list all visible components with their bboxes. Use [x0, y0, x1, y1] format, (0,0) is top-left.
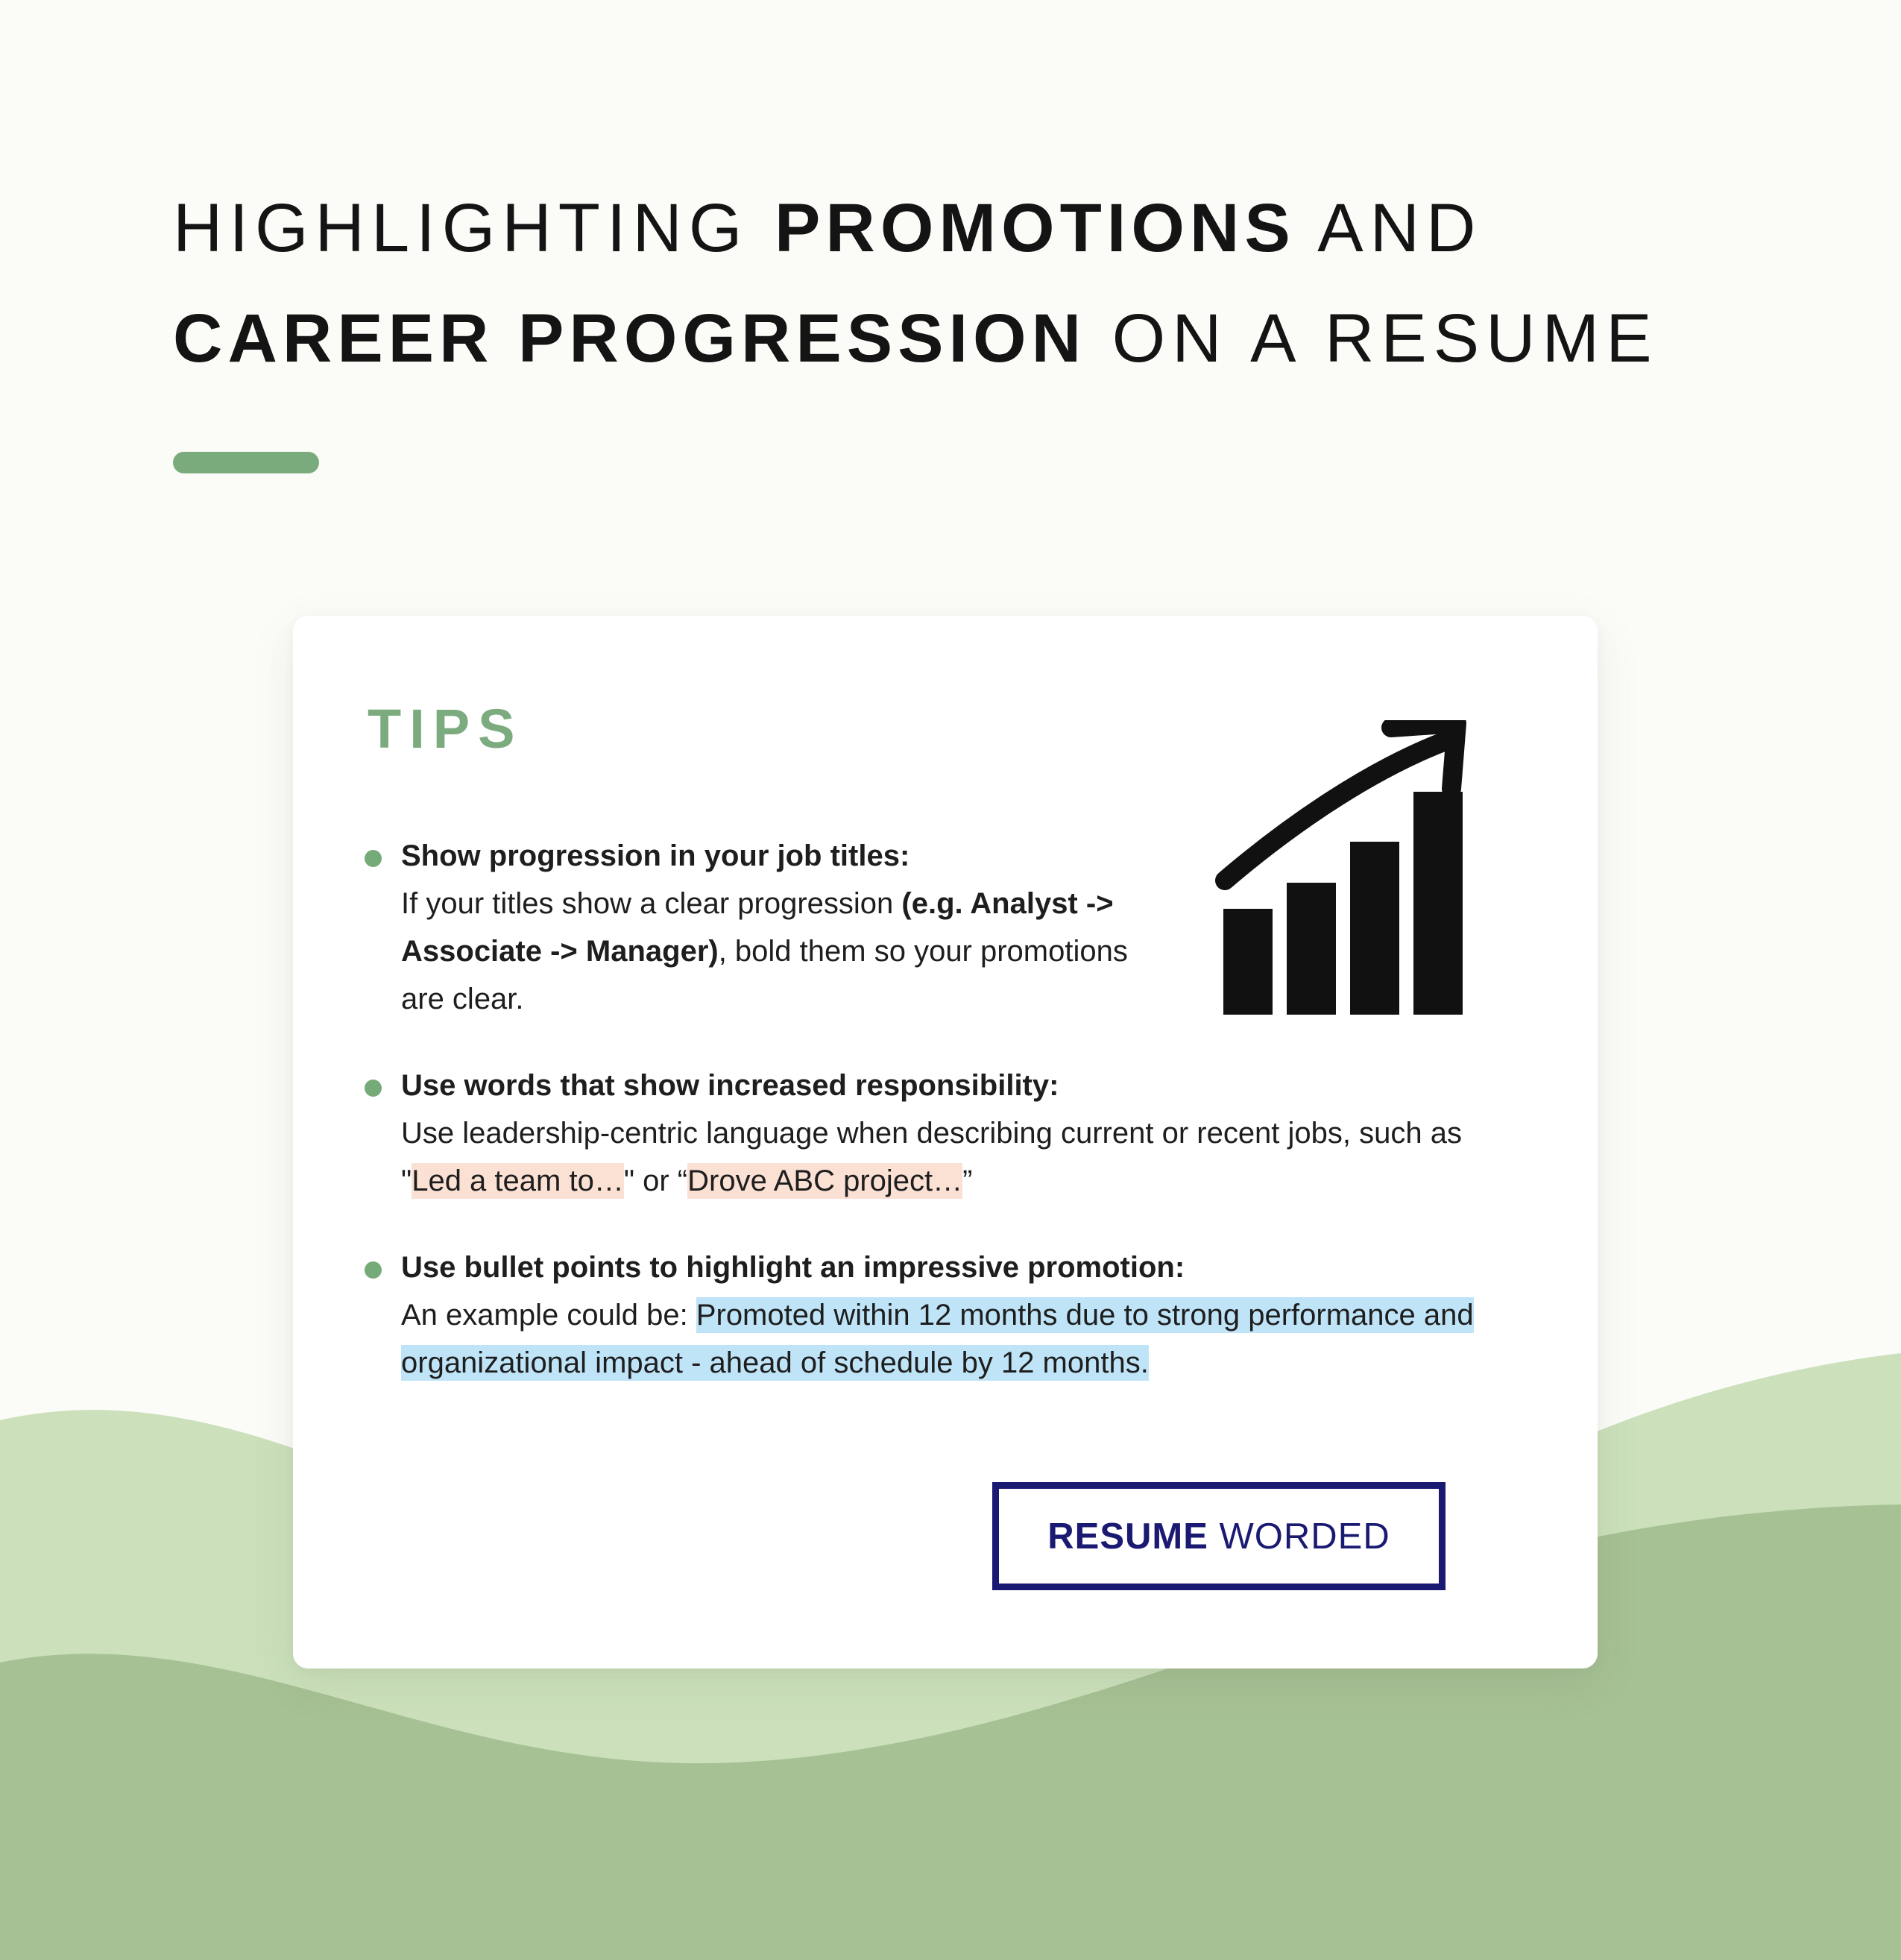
logo-word-resume: RESUME [1047, 1516, 1208, 1557]
headline-text-strong-1: PROMOTIONS [775, 190, 1296, 266]
tip-item-3: Use bullet points to highlight an impres… [359, 1244, 1522, 1387]
tip-3-body-part1: An example could be: [401, 1299, 696, 1332]
headline-text-regular-3: ON A RESUME [1086, 300, 1659, 376]
tip-2-body-part2: " or “ [624, 1165, 687, 1197]
tips-list: Show progression in your job titles:If y… [359, 832, 1522, 1387]
tip-2-highlight-1: Led a team to… [412, 1163, 624, 1199]
accent-bar-divider [173, 452, 319, 473]
headline-text-regular-1: HIGHLIGHTING [173, 190, 775, 266]
tip-2-lead: Use words that show increased responsibi… [401, 1069, 1059, 1102]
tip-2-body-part3: ” [962, 1165, 972, 1197]
headline-line-2: CAREER PROGRESSION ON A RESUME [173, 300, 1659, 376]
tip-1-body-part1: If your titles show a clear progression [401, 887, 901, 920]
bullet-dot-icon [365, 1080, 382, 1097]
headline-text-regular-2: AND [1296, 190, 1483, 266]
tip-3-text: Use bullet points to highlight an impres… [401, 1244, 1522, 1387]
tip-3-lead: Use bullet points to highlight an impres… [401, 1251, 1185, 1284]
logo-space [1208, 1516, 1220, 1557]
tips-card: TIPS Show progression in your job titles… [293, 616, 1598, 1668]
resume-worded-logo[interactable]: RESUME WORDED [992, 1482, 1446, 1590]
tip-1-text: Show progression in your job titles:If y… [401, 832, 1154, 1023]
bullet-dot-icon [365, 850, 382, 867]
headline-line-1: HIGHLIGHTING PROMOTIONS AND [173, 190, 1482, 266]
tips-card-title: TIPS [368, 702, 523, 757]
tip-1-lead: Show progression in your job titles: [401, 839, 909, 872]
page-title: HIGHLIGHTING PROMOTIONS ANDCAREER PROGRE… [173, 173, 1738, 394]
headline-text-strong-2: CAREER PROGRESSION [173, 300, 1086, 376]
logo-word-worded: WORDED [1220, 1516, 1390, 1557]
tip-2-highlight-2: Drove ABC project… [687, 1163, 962, 1199]
tip-2-text: Use words that show increased responsibi… [401, 1062, 1522, 1205]
tip-item-1: Show progression in your job titles:If y… [359, 832, 1522, 1023]
tip-item-2: Use words that show increased responsibi… [359, 1062, 1522, 1205]
resume-worded-logo-text: RESUME WORDED [1047, 1516, 1390, 1557]
bullet-dot-icon [365, 1261, 382, 1279]
